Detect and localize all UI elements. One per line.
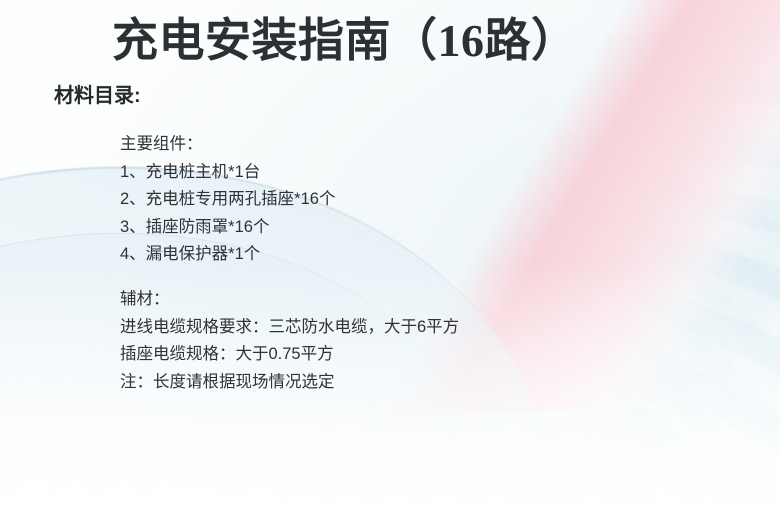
- aux-materials-line: 插座电缆规格：大于0.75平方: [120, 341, 459, 369]
- aux-materials-line: 进线电缆规格要求：三芯防水电缆，大于6平方: [120, 314, 459, 342]
- main-components-item: 4、漏电保护器*1个: [120, 241, 335, 269]
- main-components-label: 主要组件：: [120, 131, 335, 159]
- material-list-heading: 材料目录:: [54, 83, 141, 109]
- main-components-item: 3、插座防雨罩*16个: [120, 214, 335, 242]
- aux-materials-line: 注：长度请根据现场情况选定: [120, 369, 459, 397]
- main-components-block: 主要组件： 1、充电桩主机*1台 2、充电桩专用两孔插座*16个 3、插座防雨罩…: [120, 131, 335, 269]
- aux-materials-label: 辅材：: [120, 286, 459, 314]
- slide-content: 充电安装指南（16路） 材料目录: 主要组件： 1、充电桩主机*1台 2、充电桩…: [0, 0, 780, 506]
- main-components-item: 1、充电桩主机*1台: [120, 159, 335, 187]
- main-components-item: 2、充电桩专用两孔插座*16个: [120, 186, 335, 214]
- aux-materials-block: 辅材： 进线电缆规格要求：三芯防水电缆，大于6平方 插座电缆规格：大于0.75平…: [120, 286, 459, 396]
- presentation-slide: 充电安装指南（16路） 材料目录: 主要组件： 1、充电桩主机*1台 2、充电桩…: [0, 0, 780, 506]
- slide-title: 充电安装指南（16路）: [112, 12, 578, 70]
